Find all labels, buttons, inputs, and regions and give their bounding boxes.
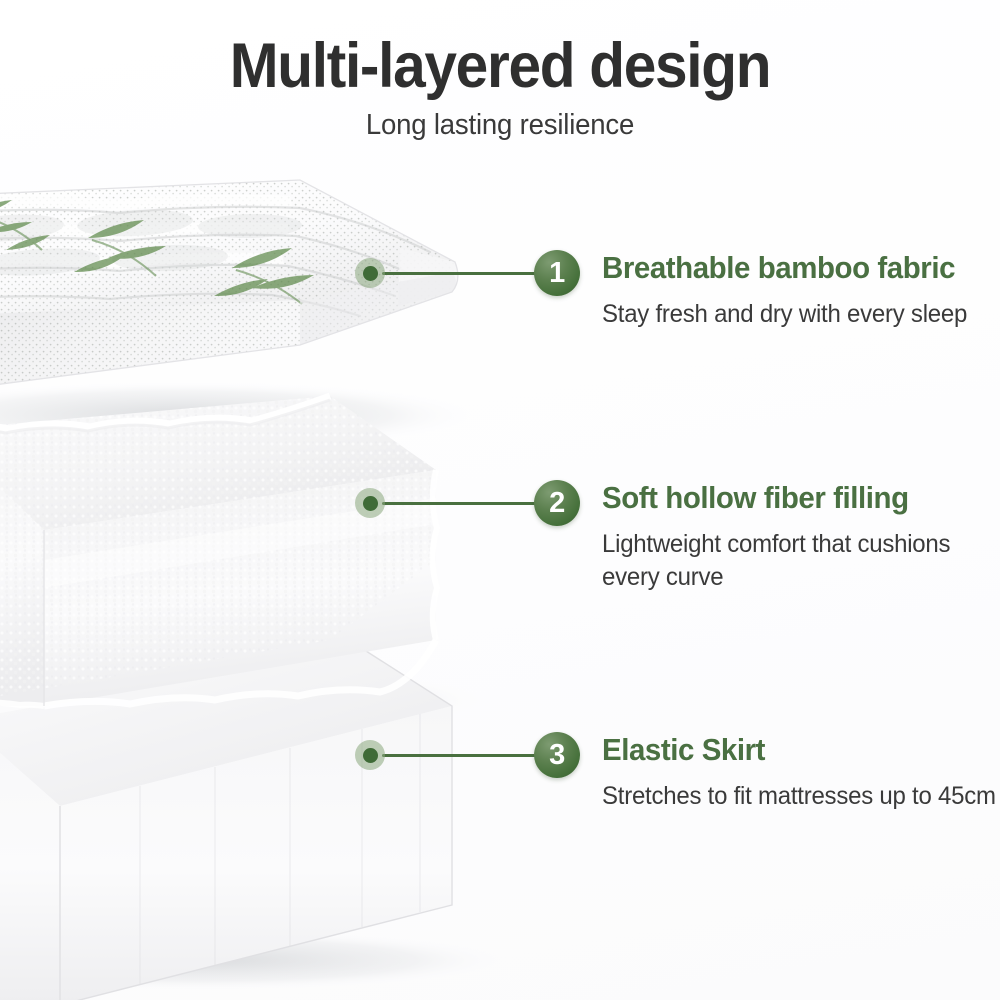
callout-3-number-badge: 3: [534, 732, 580, 778]
callout-2-marker-dot: [355, 488, 385, 518]
callout-1-body: Stay fresh and dry with every sleep: [602, 285, 1000, 331]
callout-2-number-badge: 2: [534, 480, 580, 526]
callout-3-heading: Elastic Skirt: [602, 734, 1000, 767]
callout-3-connector-line: [382, 754, 542, 757]
callout-3-marker-dot: [355, 740, 385, 770]
product-illustration: [0, 0, 560, 1000]
page-subtitle: Long lasting resilience: [25, 98, 975, 142]
callout-3-body: Stretches to fit mattresses up to 45cm: [602, 767, 1000, 813]
callout-3-text-block: Elastic Skirt Stretches to fit mattresse…: [602, 734, 1000, 813]
callout-1-marker-dot: [355, 258, 385, 288]
infographic-page: Multi-layered design Long lasting resili…: [0, 0, 1000, 1000]
callout-2-connector-line: [382, 502, 542, 505]
callout-1-heading: Breathable bamboo fabric: [602, 252, 1000, 285]
callout-2-text-block: Soft hollow fiber filling Lightweight co…: [602, 482, 1000, 594]
callout-2-body: Lightweight comfort that cushions every …: [602, 515, 1000, 595]
callout-2-heading: Soft hollow fiber filling: [602, 482, 1000, 515]
layer-bamboo-quilted: [0, 176, 480, 406]
callout-1-text-block: Breathable bamboo fabric Stay fresh and …: [602, 252, 1000, 331]
callout-1-connector-line: [382, 272, 542, 275]
callout-1-number-badge: 1: [534, 250, 580, 296]
header: Multi-layered design Long lasting resili…: [0, 0, 1000, 142]
page-title: Multi-layered design: [35, 0, 965, 98]
